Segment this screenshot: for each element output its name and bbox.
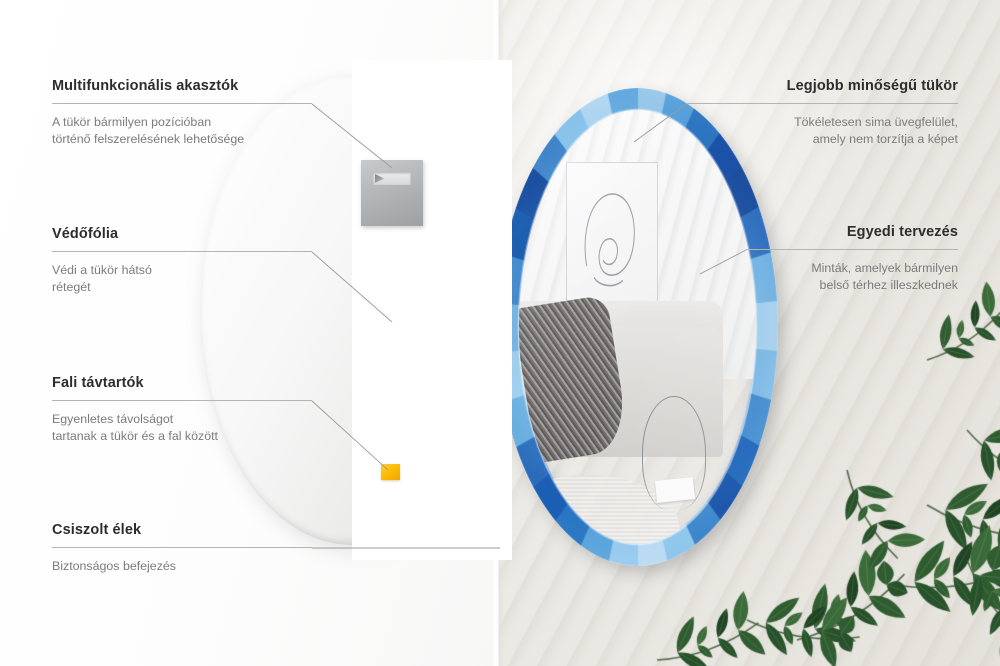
callout-rule xyxy=(686,103,958,104)
callout-description: Egyenletes távolságot tartanak a tükör é… xyxy=(52,411,312,445)
callout-title: Multifunkcionális akasztók xyxy=(52,78,312,94)
mirror-glass xyxy=(519,110,756,544)
glass-sheen xyxy=(519,110,756,544)
round-mirror xyxy=(497,88,778,566)
callout-protective-film: Védőfólia Védi a tükör hátsó rétegét xyxy=(52,226,312,296)
disc-right-mask xyxy=(352,60,512,560)
callout-rule xyxy=(52,103,312,104)
callout-title: Védőfólia xyxy=(52,226,312,242)
callout-unique-design: Egyedi tervezés Minták, amelyek bármilye… xyxy=(746,224,958,294)
callout-description: Biztonságos befejezés xyxy=(52,558,312,575)
callout-best-quality-mirror: Legjobb minőségű tükör Tökéletesen sima … xyxy=(686,78,958,148)
callout-description: Minták, amelyek bármilyen belső térhez i… xyxy=(746,260,958,294)
callout-title: Egyedi tervezés xyxy=(746,224,958,240)
callout-rule xyxy=(52,400,312,401)
callout-rule xyxy=(746,249,958,250)
keyhole-slot-icon xyxy=(373,172,411,185)
callout-rule xyxy=(52,251,312,252)
infographic-canvas: Multifunkcionális akasztók A tükör bármi… xyxy=(0,0,1000,666)
callout-title: Legjobb minőségű tükör xyxy=(686,78,958,94)
wall-spacer-icon xyxy=(381,464,400,480)
callout-polished-edges: Csiszolt élek Biztonságos befejezés xyxy=(52,522,312,575)
callout-multifunctional-hooks: Multifunkcionális akasztók A tükör bármi… xyxy=(52,78,312,148)
callout-description: A tükör bármilyen pozícióban történő fel… xyxy=(52,114,312,148)
callout-title: Csiszolt élek xyxy=(52,522,312,538)
callout-description: Védi a tükör hátsó rétegét xyxy=(52,262,312,296)
hanger-plate-icon xyxy=(361,160,423,226)
callout-description: Tökéletesen sima üvegfelület, amely nem … xyxy=(686,114,958,148)
callout-title: Fali távtartók xyxy=(52,375,312,391)
callout-rule xyxy=(52,547,312,548)
callout-wall-spacers: Fali távtartók Egyenletes távolságot tar… xyxy=(52,375,312,445)
